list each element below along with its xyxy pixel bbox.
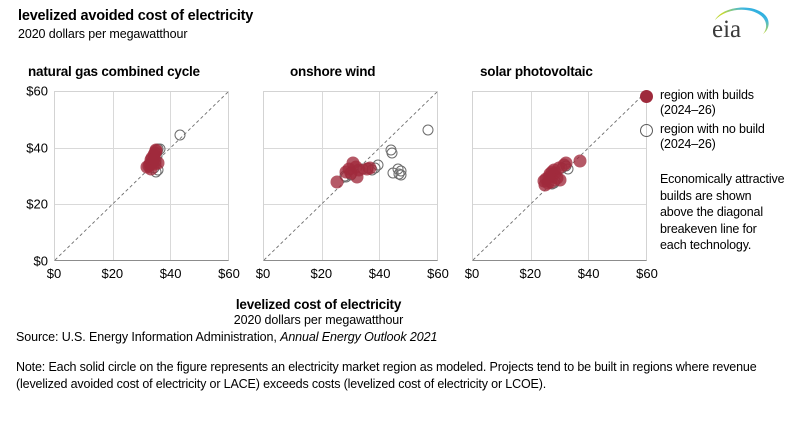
- legend: region with builds (2024–26) region with…: [640, 88, 785, 254]
- solid-circle-icon: [640, 90, 653, 103]
- legend-item-no-build: region with no build (2024–26): [640, 122, 785, 152]
- data-point-build: [574, 154, 587, 167]
- legend-item-label: region with no build (2024–26): [660, 122, 785, 152]
- eia-logo: eia: [695, 4, 773, 42]
- plot-area: [472, 91, 647, 261]
- x-axis-title: levelized cost of electricity: [0, 297, 637, 312]
- data-point-build: [148, 153, 161, 166]
- legend-item-builds: region with builds (2024–26): [640, 88, 785, 118]
- panel-title: natural gas combined cycle: [28, 64, 200, 79]
- hollow-circle-icon: [640, 124, 653, 137]
- legend-explanatory-note: Economically attractive builds are shown…: [660, 171, 785, 254]
- x-tick-label: $0: [47, 266, 61, 281]
- x-tick-label: $60: [636, 266, 658, 281]
- data-point-build: [353, 164, 366, 177]
- data-point-no-build: [388, 168, 399, 179]
- data-point-build: [552, 161, 565, 174]
- x-tick-label: $20: [310, 266, 332, 281]
- x-tick-label: $60: [218, 266, 240, 281]
- x-tick-label: $20: [519, 266, 541, 281]
- figure-note: Note: Each solid circle on the figure re…: [16, 359, 774, 393]
- data-point-build: [330, 175, 343, 188]
- source-prefix: Source: U.S. Energy Information Administ…: [16, 330, 280, 344]
- source-line: Source: U.S. Energy Information Administ…: [16, 330, 437, 344]
- x-tick-label: $60: [427, 266, 449, 281]
- panel-title: solar photovoltaic: [480, 64, 593, 79]
- panel-title: onshore wind: [290, 64, 375, 79]
- chart-panel-onshore-wind: onshore wind: [263, 91, 438, 261]
- data-point-no-build: [175, 130, 186, 141]
- plot-area: [263, 91, 438, 261]
- data-point-no-build: [387, 148, 398, 159]
- x-axis-subtitle: 2020 dollars per megawatthour: [0, 313, 637, 327]
- x-tick-label: $40: [578, 266, 600, 281]
- page-subtitle: 2020 dollars per megawatthour: [18, 27, 187, 41]
- svg-text:eia: eia: [712, 16, 741, 42]
- x-tick-label: $20: [101, 266, 123, 281]
- y-tick-label: $60: [26, 84, 48, 99]
- x-tick-label: $40: [160, 266, 182, 281]
- legend-item-label: region with builds (2024–26): [660, 88, 785, 118]
- plot-area: [54, 91, 229, 261]
- chart-panel-natural-gas-combined-cycle: natural gas combined cycle: [54, 91, 229, 261]
- y-tick-label: $20: [26, 197, 48, 212]
- x-tick-label: $0: [465, 266, 479, 281]
- data-point-no-build: [423, 125, 434, 136]
- x-tick-label: $40: [369, 266, 391, 281]
- y-axis: $60 $40 $20 $0: [0, 91, 48, 261]
- breakeven-line: [55, 92, 228, 260]
- data-point-build: [539, 178, 552, 191]
- chart-panel-solar-photovoltaic: solar photovoltaic: [472, 91, 647, 261]
- page-title: levelized avoided cost of electricity: [18, 8, 253, 24]
- y-tick-label: $40: [26, 140, 48, 155]
- source-publication: Annual Energy Outlook 2021: [280, 330, 437, 344]
- x-tick-label: $0: [256, 266, 270, 281]
